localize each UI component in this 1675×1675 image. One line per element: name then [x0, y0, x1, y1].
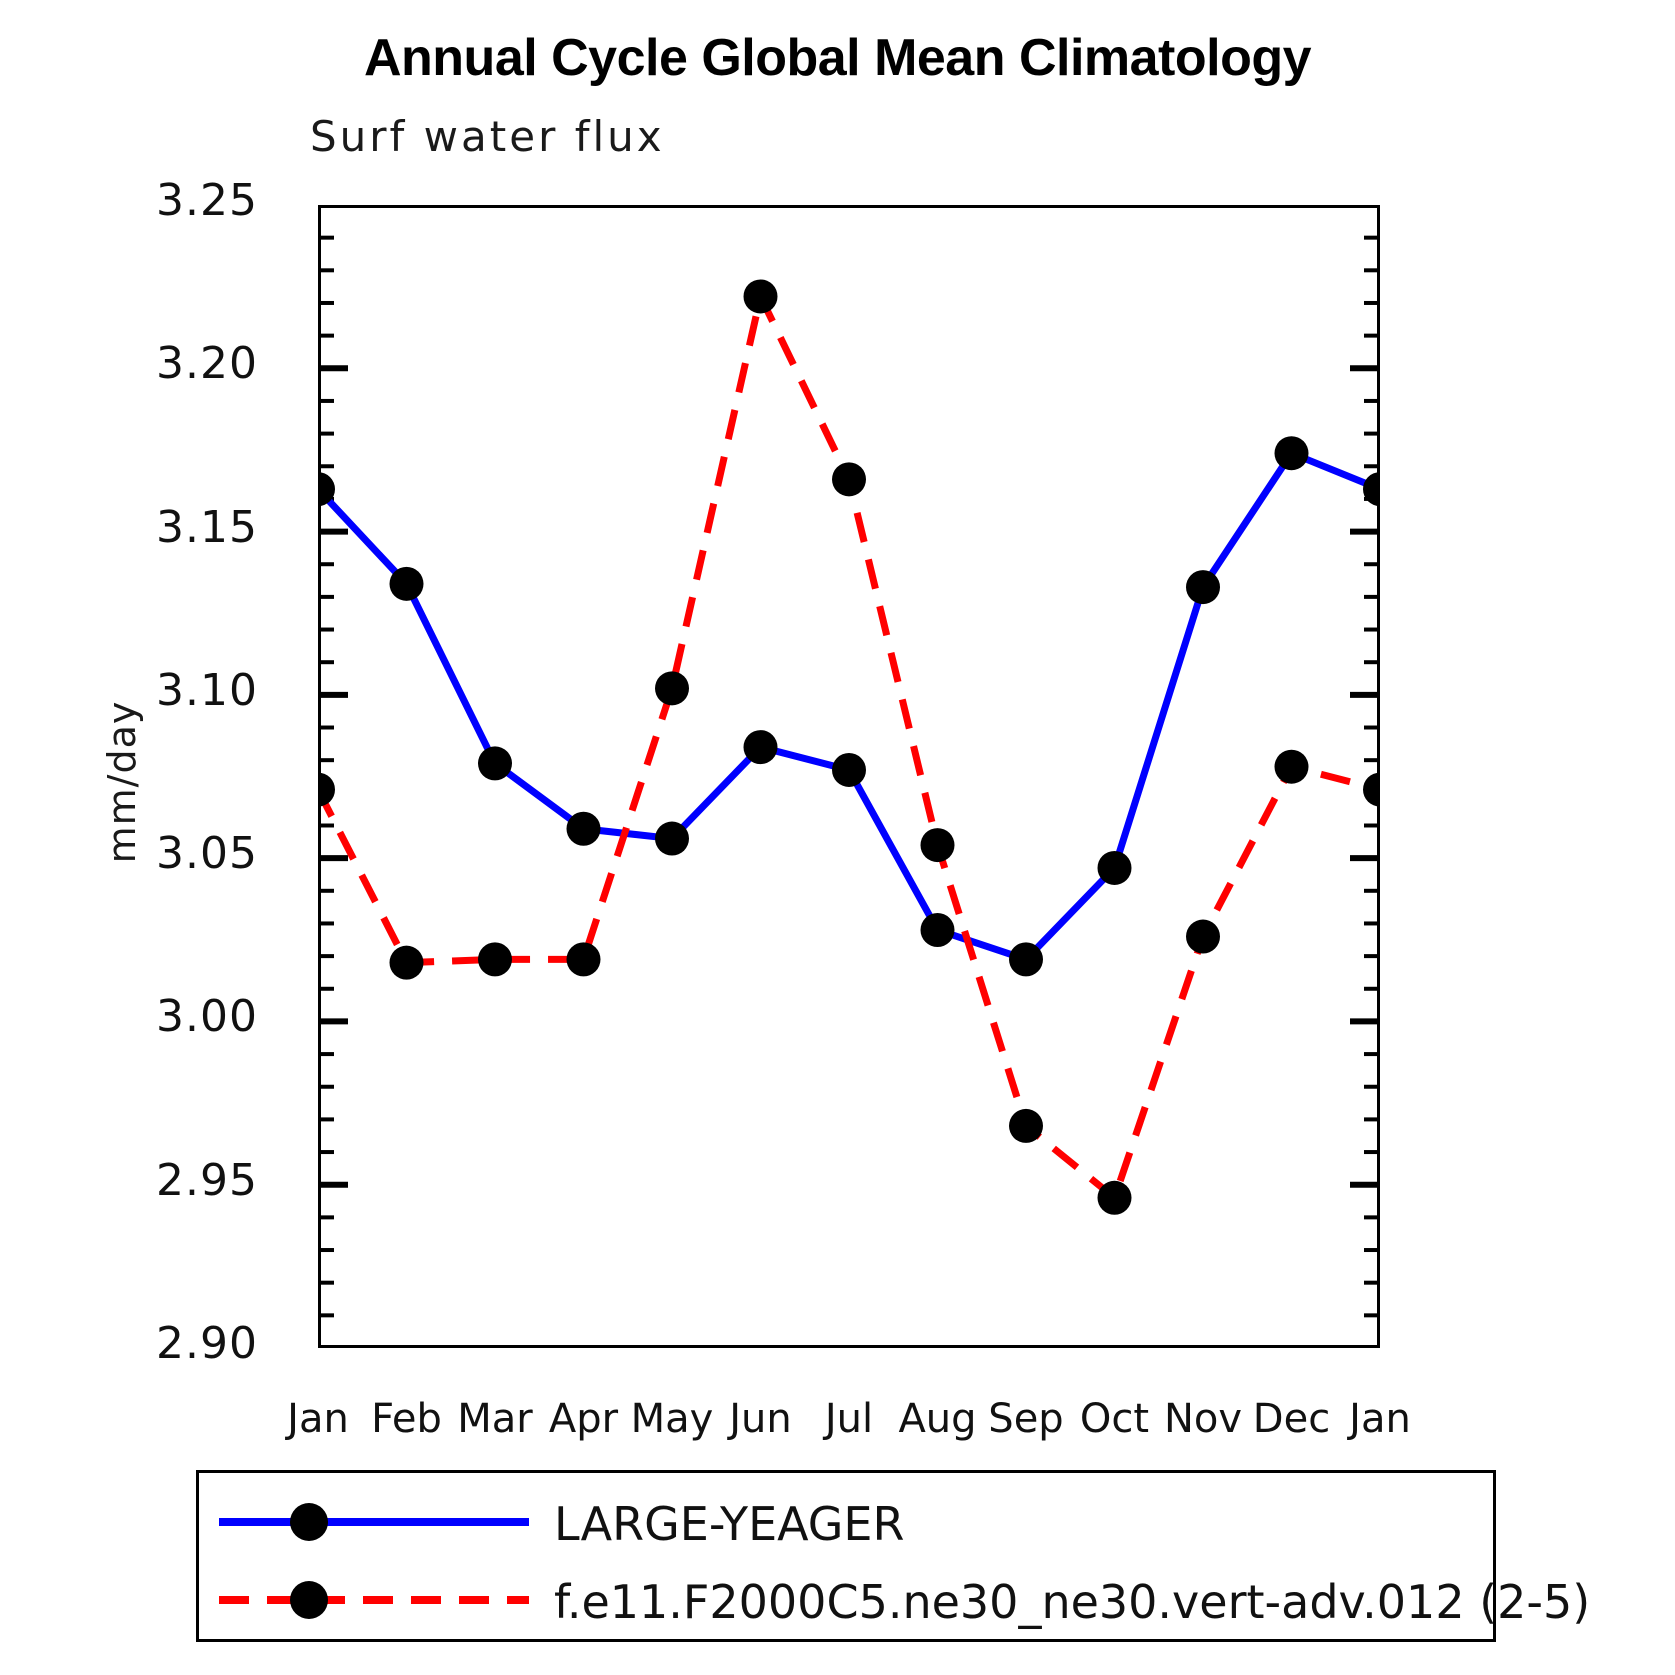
data-point-marker [744, 279, 778, 313]
data-point-marker [1009, 1109, 1043, 1143]
legend-item-label: LARGE-YEAGER [554, 1497, 904, 1551]
y-tick-label: 3.05 [28, 828, 258, 879]
data-point-marker [1186, 920, 1220, 954]
data-point-marker [1363, 472, 1380, 506]
data-point-marker [921, 913, 955, 947]
legend-item[interactable]: f.e11.F2000C5.ne30_ne30.vert-adv.012 (2-… [199, 1559, 1493, 1645]
chart-legend: LARGE-YEAGERf.e11.F2000C5.ne30_ne30.vert… [196, 1470, 1496, 1642]
chart-svg [318, 205, 1380, 1348]
data-point-marker [832, 753, 866, 787]
data-point-marker [478, 942, 512, 976]
data-point-marker [921, 828, 955, 862]
legend-line-swatch [209, 1492, 539, 1556]
data-point-marker [1186, 570, 1220, 604]
legend-item-label: f.e11.F2000C5.ne30_ne30.vert-adv.012 (2-… [554, 1575, 1590, 1629]
legend-item[interactable]: LARGE-YEAGER [199, 1481, 1493, 1567]
data-point-marker [744, 730, 778, 764]
y-tick-label: 3.10 [28, 665, 258, 716]
data-point-marker [832, 462, 866, 496]
data-point-marker [567, 812, 601, 846]
plot-area [318, 205, 1380, 1348]
data-point-marker [1098, 1181, 1132, 1215]
data-point-marker [1363, 773, 1380, 807]
chart-page: Annual Cycle Global Mean Climatology Sur… [0, 0, 1675, 1675]
data-point-marker [1098, 851, 1132, 885]
data-point-marker [478, 746, 512, 780]
data-point-marker [1275, 436, 1309, 470]
y-tick-label: 3.15 [28, 502, 258, 553]
data-point-marker [655, 671, 689, 705]
data-point-marker [1009, 942, 1043, 976]
y-tick-label: 2.95 [28, 1155, 258, 1206]
y-tick-label: 2.90 [28, 1318, 258, 1369]
page-title: Annual Cycle Global Mean Climatology [0, 28, 1675, 88]
y-tick-label: 3.00 [28, 991, 258, 1042]
data-point-marker [567, 942, 601, 976]
y-tick-label: 3.25 [28, 175, 258, 226]
data-point-marker [390, 567, 424, 601]
chart-subtitle: Surf water flux [310, 112, 665, 161]
data-point-marker [1275, 750, 1309, 784]
series-line-0 [318, 453, 1380, 959]
x-tick-label: Jan [1320, 1396, 1440, 1442]
data-point-marker [318, 773, 335, 807]
series-line-1 [318, 296, 1380, 1197]
data-point-marker [655, 822, 689, 856]
legend-line-swatch [209, 1570, 539, 1634]
y-tick-label: 3.20 [28, 338, 258, 389]
data-point-marker [390, 946, 424, 980]
